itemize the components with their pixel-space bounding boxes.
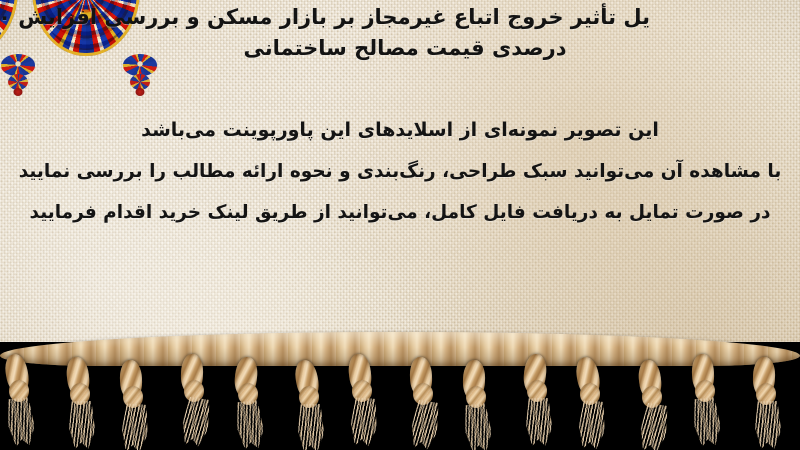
fringe-tassel — [229, 357, 263, 449]
tassel-strands — [463, 403, 494, 450]
fringe-tassel — [571, 357, 605, 449]
tassel-row — [0, 354, 800, 450]
presentation-slide: یل تأثیر خروج اتباع غیرمجاز بر بازار مسک… — [0, 0, 800, 450]
fringe-tassel — [114, 360, 148, 450]
tassel-strands — [234, 400, 265, 450]
tassel-strands — [121, 403, 150, 450]
fringe-tassel — [404, 357, 438, 449]
tassel-strands — [754, 401, 781, 449]
tassel-strands — [69, 401, 96, 449]
tassel-strands — [691, 397, 722, 447]
fringe-tassel — [290, 360, 324, 450]
tassel-strands — [408, 399, 441, 450]
tassel-strands — [6, 397, 37, 447]
fringe-tassel — [686, 354, 720, 446]
fringe-tassel — [457, 360, 491, 450]
slide-body-line-3: در صورت تمایل به دریافت فایل کامل، می‌تو… — [0, 192, 800, 233]
fringe-tassel — [343, 354, 377, 446]
tassel-strands — [637, 402, 670, 450]
slide-title-line-1: یل تأثیر خروج اتباع غیرمجاز بر بازار مسک… — [10, 2, 650, 33]
tassel-strands — [297, 404, 324, 450]
fringe-tassel — [61, 357, 95, 449]
slide-title-line-2: درصدی قیمت مصالح ساختمانی — [10, 33, 800, 64]
tassel-strands — [180, 396, 213, 447]
tassel-strands — [578, 400, 607, 450]
slide-body-line-2: با مشاهده آن می‌توانید سبک طراحی، رنگ‌بن… — [0, 151, 800, 192]
fringe-tassel — [175, 354, 209, 446]
fringe-tassel — [747, 357, 781, 449]
tassel-strands — [349, 397, 378, 447]
fringe-tassel — [633, 360, 667, 450]
carpet-fringe-area — [0, 342, 800, 450]
slide-title: یل تأثیر خروج اتباع غیرمجاز بر بازار مسک… — [10, 2, 800, 64]
fringe-tassel — [0, 354, 34, 446]
fringe-tassel — [518, 354, 552, 446]
slide-body: این تصویر نمونه‌ای از اسلایدهای این پاور… — [0, 110, 800, 233]
slide-body-line-1: این تصویر نمونه‌ای از اسلایدهای این پاور… — [0, 110, 800, 151]
tassel-strands — [526, 398, 553, 446]
